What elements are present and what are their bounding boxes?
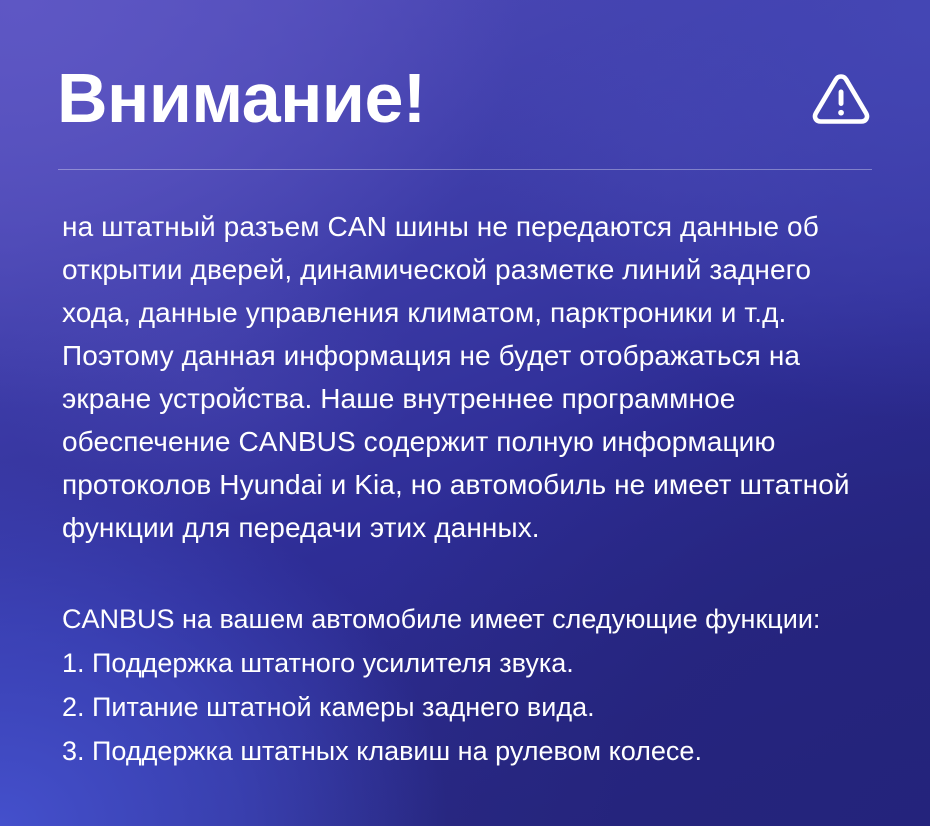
functions-block: CANBUS на вашем автомобиле имеет следующ… <box>62 597 880 773</box>
list-item: 3. Поддержка штатных клавиш на рулевом к… <box>62 729 880 773</box>
banner-header: Внимание! <box>57 52 873 144</box>
list-item: 1. Поддержка штатного усилителя звука. <box>62 641 880 685</box>
warning-triangle-icon <box>811 70 871 126</box>
intro-paragraph: на штатный разъем CAN шины не передаются… <box>62 205 880 549</box>
functions-intro: CANBUS на вашем автомобиле имеет следующ… <box>62 597 880 641</box>
page-title: Внимание! <box>57 63 426 133</box>
header-divider <box>58 169 872 170</box>
list-item: 2. Питание штатной камеры заднего вида. <box>62 685 880 729</box>
warning-banner: Внимание! на штатный разъем CAN шины не … <box>0 0 930 826</box>
banner-content: на штатный разъем CAN шины не передаются… <box>62 205 880 773</box>
functions-list: 1. Поддержка штатного усилителя звука. 2… <box>62 641 880 773</box>
